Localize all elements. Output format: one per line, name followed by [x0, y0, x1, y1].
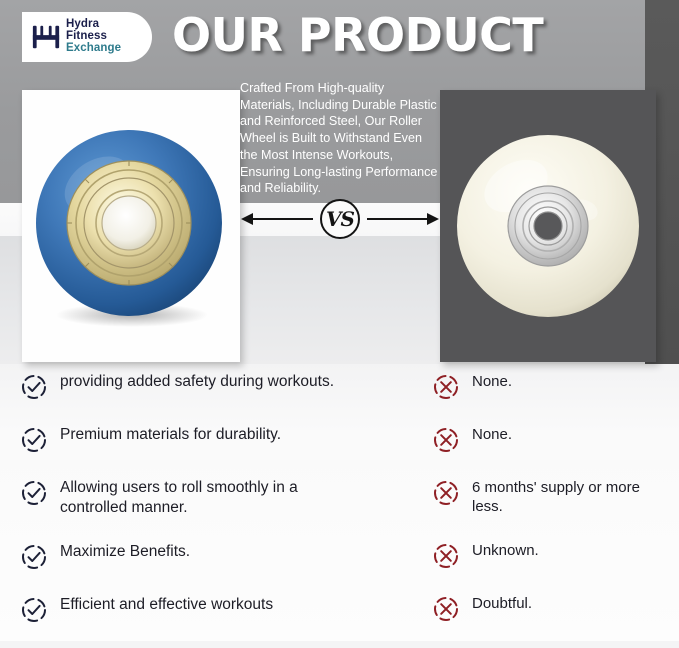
cons-list: None. None. 6 months' supply or more les… — [432, 372, 662, 647]
versus-badge-label: VS — [326, 207, 354, 231]
left-product-card — [22, 90, 240, 362]
list-item: Doubtful. — [432, 594, 662, 623]
list-item: providing added safety during workouts. — [20, 372, 350, 401]
list-item-label: Allowing users to roll smoothly in a con… — [60, 478, 350, 518]
check-circle-dashed-icon — [20, 596, 48, 624]
check-circle-dashed-icon — [20, 426, 48, 454]
divider-line-right — [367, 218, 427, 220]
list-item: None. — [432, 425, 662, 454]
brand-logo-text: Hydra Fitness Exchange — [66, 19, 121, 55]
list-item: None. — [432, 372, 662, 401]
pros-list: providing added safety during workouts. … — [20, 372, 350, 648]
header: Hydra Fitness Exchange OUR PRODUCT — [0, 0, 679, 80]
check-circle-dashed-icon — [20, 479, 48, 507]
list-item: Efficient and effective workouts — [20, 595, 350, 624]
arrow-left-icon — [241, 213, 253, 225]
page-title: OUR PRODUCT — [172, 8, 543, 62]
list-item-label: Doubtful. — [472, 594, 532, 613]
versus-divider: VS — [243, 218, 437, 220]
hydra-h-mark-icon — [31, 22, 61, 52]
product-description: Crafted From High-quality Materials, Inc… — [240, 80, 440, 197]
cross-circle-dashed-icon — [432, 595, 460, 623]
list-item: Maximize Benefits. — [20, 542, 350, 571]
list-item-label: 6 months' supply or more less. — [472, 478, 662, 517]
check-circle-dashed-icon — [20, 373, 48, 401]
list-item: Unknown. — [432, 541, 662, 570]
list-item-label: providing added safety during workouts. — [60, 372, 334, 392]
list-item: 6 months' supply or more less. — [432, 478, 662, 517]
list-item-label: Efficient and effective workouts — [60, 595, 273, 615]
brand-line-3: Exchange — [66, 43, 121, 55]
list-item: Premium materials for durability. — [20, 425, 350, 454]
brand-logo[interactable]: Hydra Fitness Exchange — [22, 12, 152, 62]
divider-line-left — [253, 218, 313, 220]
list-item-label: None. — [472, 372, 512, 391]
cross-circle-dashed-icon — [432, 542, 460, 570]
cross-circle-dashed-icon — [432, 479, 460, 507]
blue-roller-wheel-image — [28, 123, 234, 329]
list-item-label: Premium materials for durability. — [60, 425, 281, 445]
list-item-label: Maximize Benefits. — [60, 542, 190, 562]
versus-badge: VS — [320, 199, 360, 239]
right-product-card — [440, 90, 656, 362]
cross-circle-dashed-icon — [432, 373, 460, 401]
cross-circle-dashed-icon — [432, 426, 460, 454]
arrow-right-icon — [427, 213, 439, 225]
list-item: Allowing users to roll smoothly in a con… — [20, 478, 350, 518]
check-circle-dashed-icon — [20, 543, 48, 571]
list-item-label: Unknown. — [472, 541, 539, 560]
cream-roller-wheel-image — [450, 128, 646, 324]
list-item-label: None. — [472, 425, 512, 444]
